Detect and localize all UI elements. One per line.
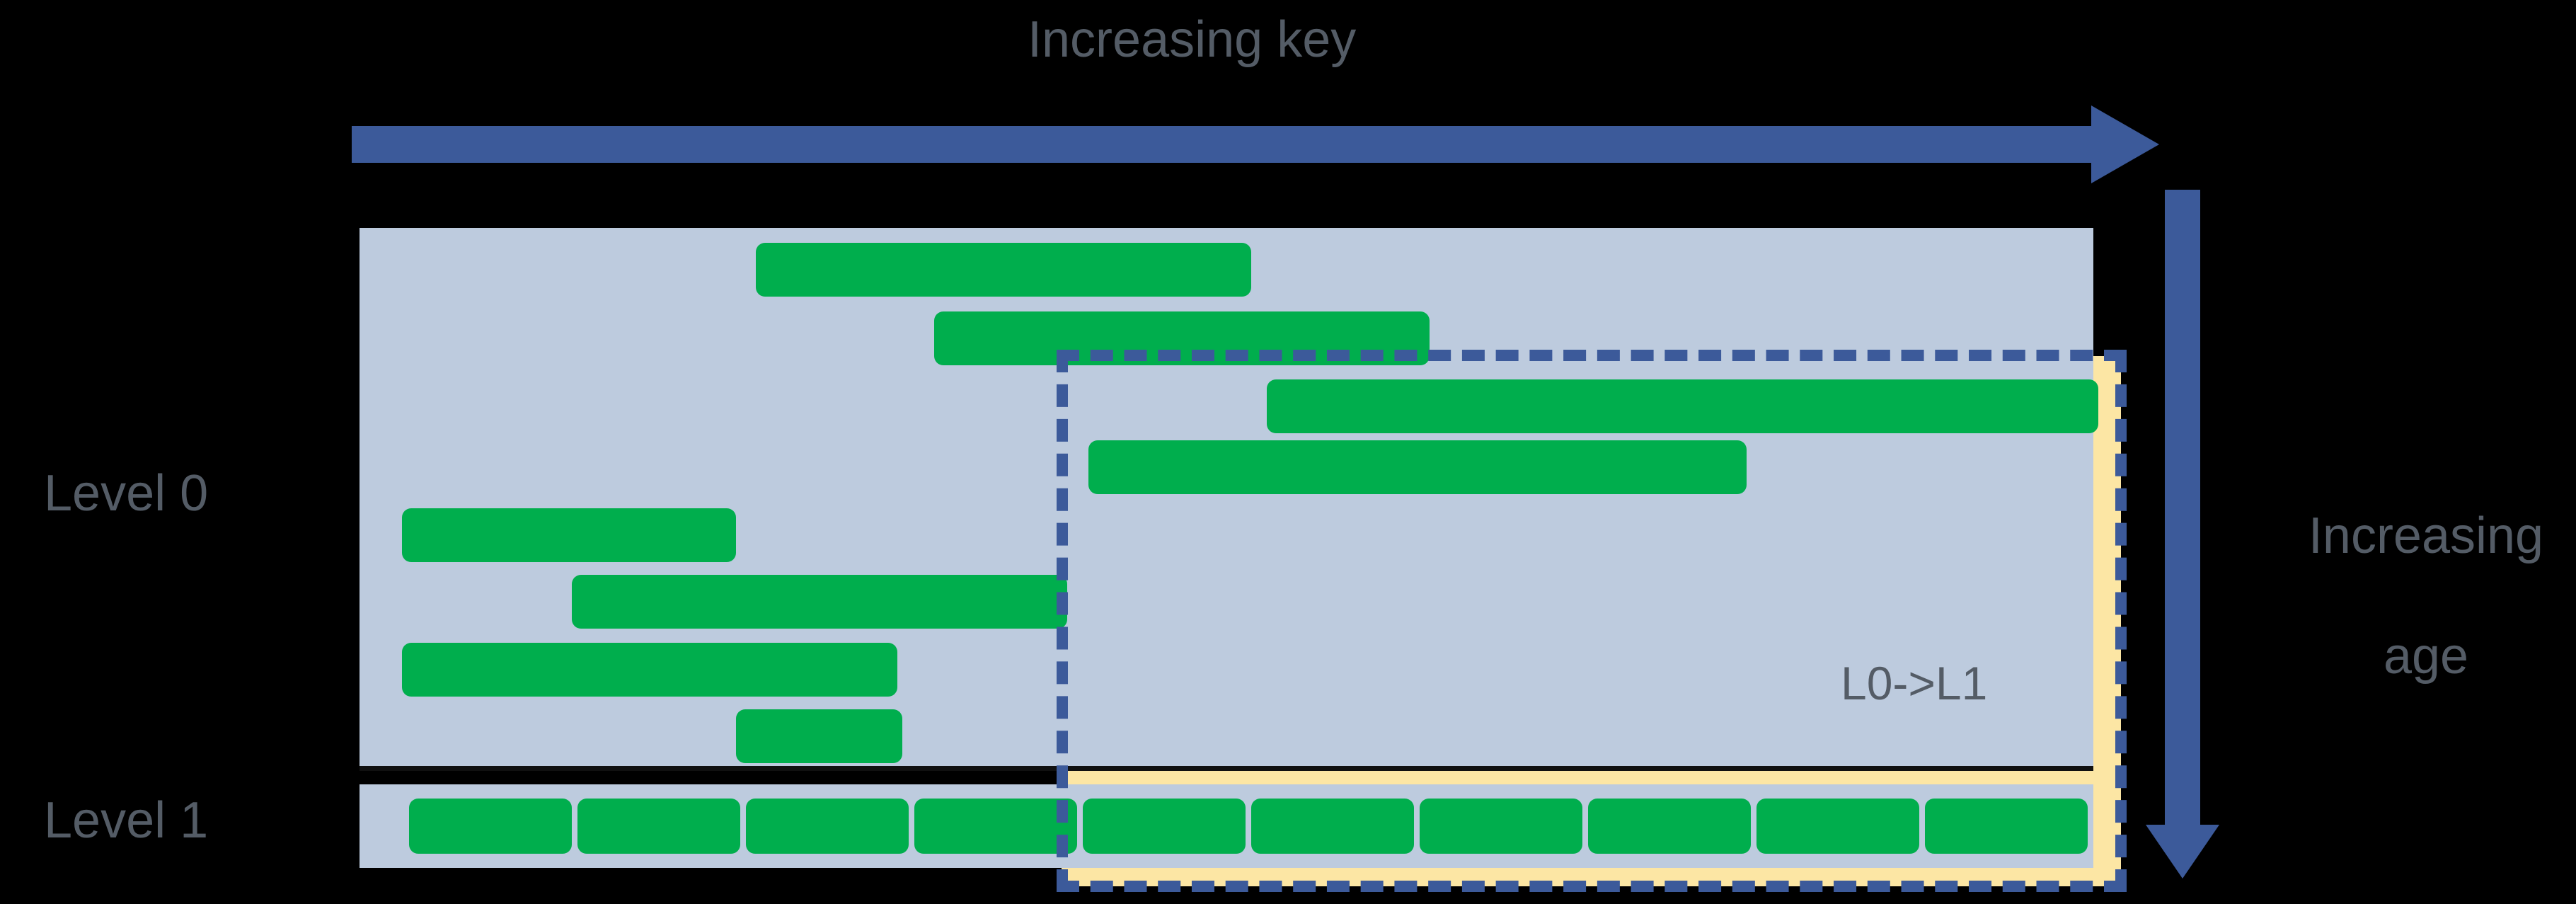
compaction-caption-line1: L0->L1 <box>1841 657 1987 709</box>
level-1-sstable <box>1251 799 1414 854</box>
lsm-compaction-diagram: Increasing key Increasing age Level 0 Le… <box>0 0 2576 904</box>
level-1-sstable <box>1420 799 1582 854</box>
level-1-sstable <box>914 799 1077 854</box>
level-0-sstable <box>572 575 1067 629</box>
increasing-key-arrow-shaft <box>352 126 2124 163</box>
level-0-sstable <box>934 311 1430 365</box>
level-0-label: Level 0 <box>44 464 208 524</box>
level-1-sstable <box>577 799 740 854</box>
increasing-age-arrow-head <box>2146 825 2219 879</box>
level-1-sstable <box>746 799 909 854</box>
increasing-age-label-line1: Increasing <box>2308 508 2543 564</box>
level-1-sstable <box>409 799 572 854</box>
level-1-sstable <box>1756 799 1919 854</box>
compaction-highlight-right <box>2091 356 2121 868</box>
level-1-sstable <box>1588 799 1751 854</box>
level-0-sstable <box>756 243 1251 297</box>
level-0-sstable <box>1088 440 1747 494</box>
level-1-label: Level 1 <box>44 791 208 851</box>
level-1-sstable <box>1925 799 2088 854</box>
increasing-age-label: Increasing age <box>2235 446 2560 747</box>
level-0-sstable <box>1267 379 2098 433</box>
increasing-key-label: Increasing key <box>1028 10 1356 70</box>
increasing-key-arrow-head <box>2091 105 2159 183</box>
level-1-sstable <box>1083 799 1246 854</box>
increasing-age-label-line2: age <box>2384 628 2468 685</box>
level-0-sstable <box>736 709 902 763</box>
level-0-sstable <box>402 643 897 697</box>
level-0-sstable <box>402 508 736 562</box>
increasing-age-arrow-shaft <box>2165 190 2200 830</box>
